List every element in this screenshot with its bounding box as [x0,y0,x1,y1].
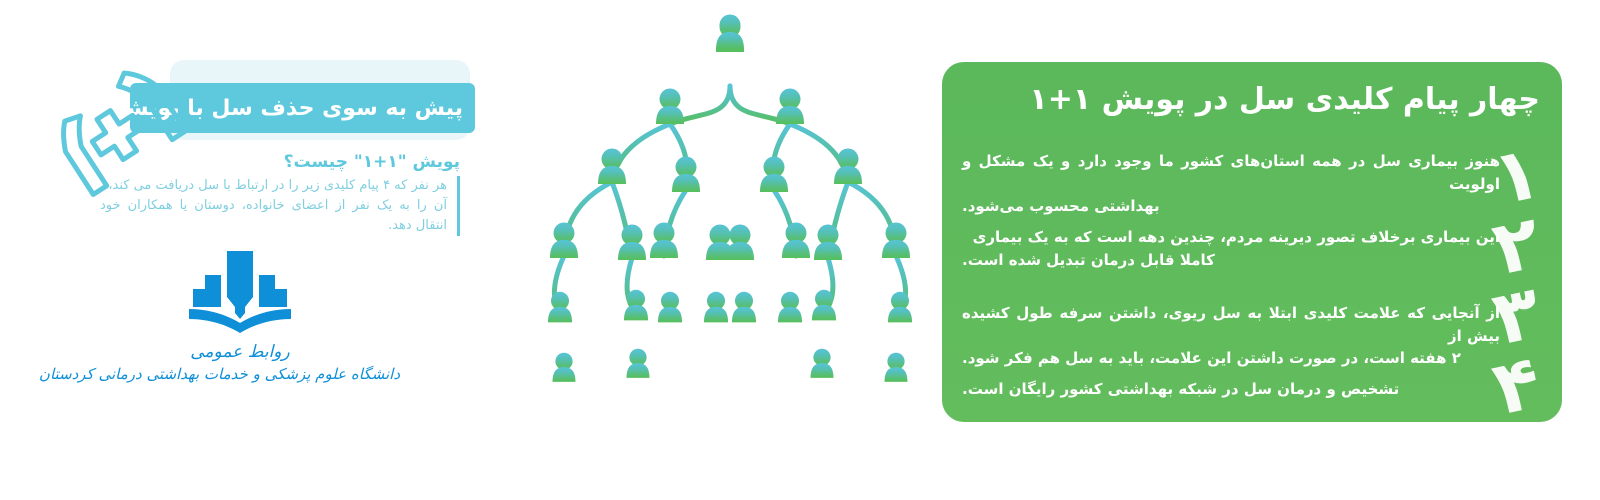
key-message-item: این بیماری برخلاف تصور دیرینه مردم، چندی… [962,226,1500,271]
key-message-line: کاملا قابل درمان تبدیل شده است. [962,249,1500,272]
organization-name-primary: روابط عمومی [80,342,400,362]
university-book-logo-icon [175,245,305,340]
key-message-item: هنوز بیماری سل در همه استان‌های کشور ما … [962,150,1500,218]
key-message-line: از آنجایی که علامت کلیدی ابتلا به سل ریو… [962,302,1500,347]
key-message-item: از آنجایی که علامت کلیدی ابتلا به سل ریو… [962,302,1500,370]
key-message-line: بهداشتی محسوب می‌شود. [962,195,1500,218]
description-line: هر نفر که ۴ پیام کلیدی زیر را در ارتباط … [100,176,447,196]
key-message-line: تشخیص و درمان سل در شبکه بهداشتی کشور را… [962,378,1500,401]
people-network-diagram [520,0,940,500]
people-network-cascade-icon [520,0,940,450]
key-messages-panel: چهار پیام کلیدی سل در پویش ۱+۱ ۱ ۲ ۳ ۴ ه… [942,62,1562,422]
campaign-subtitle: پویش "۱+۱" چیست؟ [110,152,460,172]
infographic-poster: پیش به سوی حذف سل با پویش ۱+۱ پویش "۱+۱"… [0,0,1600,500]
organization-logo: روابط عمومی دانشگاه علوم پزشکی و خدمات ب… [80,245,400,383]
organization-name-secondary: دانشگاه علوم پزشکی و خدمات بهداشتی درمان… [80,365,400,383]
key-message-line: این بیماری برخلاف تصور دیرینه مردم، چندی… [962,226,1500,249]
key-message-line: هنوز بیماری سل در همه استان‌های کشور ما … [962,150,1500,195]
key-message-item: تشخیص و درمان سل در شبکه بهداشتی کشور را… [962,378,1500,401]
key-messages-title: چهار پیام کلیدی سل در پویش ۱+۱ [964,82,1540,117]
campaign-description: هر نفر که ۴ پیام کلیدی زیر را در ارتباط … [100,176,460,236]
key-message-line: ۲ هفته است، در صورت داشتن این علامت، بای… [962,347,1500,370]
description-line: آن را به یک نفر از اعضای خانواده، دوستان… [100,196,447,236]
left-campaign-panel: پیش به سوی حذف سل با پویش ۱+۱ پویش "۱+۱"… [0,0,520,500]
